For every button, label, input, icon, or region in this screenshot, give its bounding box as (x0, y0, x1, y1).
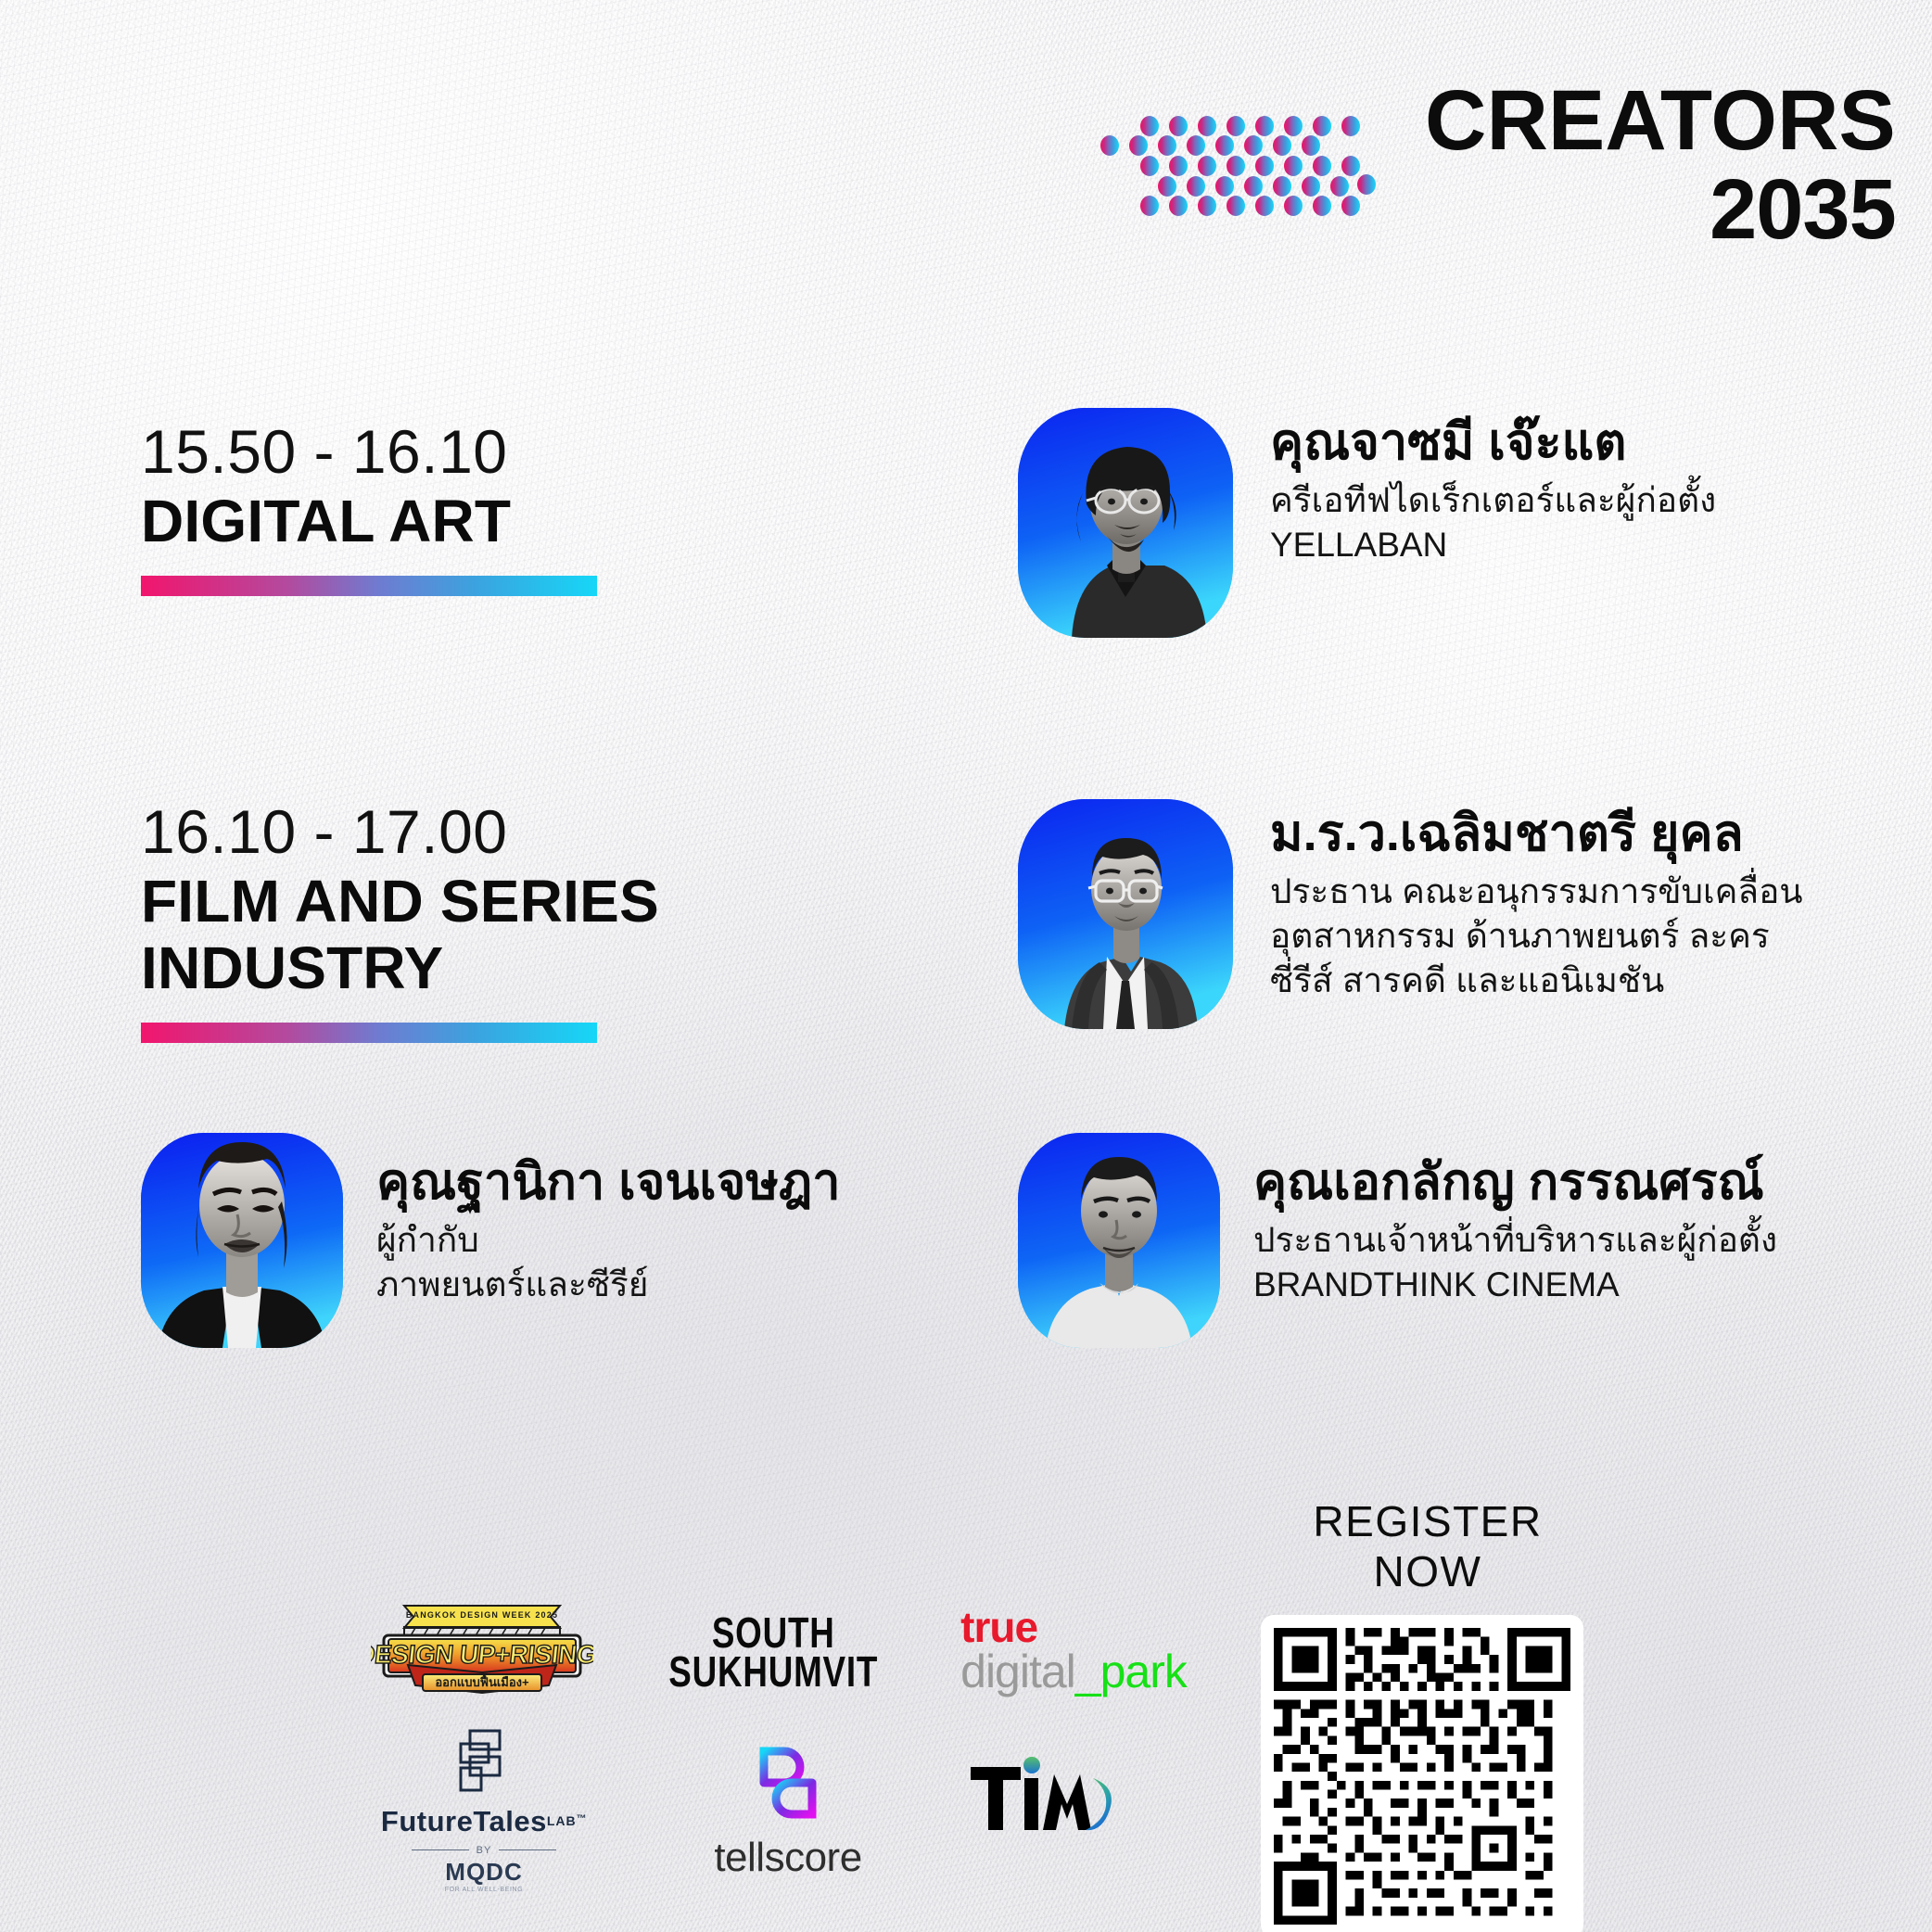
section-divider (111, 731, 1819, 740)
avatar-chalermchatri (1018, 799, 1233, 1029)
speaker-name: คุณเอกลักญ กรรณศรณ์ (1253, 1153, 1777, 1213)
avatar-jazmee (1018, 408, 1233, 638)
speaker-role-line: ประธาน คณะอนุกรรมการขับเคลื่อน (1270, 870, 1803, 914)
mqdc-tagline: FOR ALL WELL-BEING (381, 1887, 587, 1893)
park-word: _park (1075, 1646, 1187, 1697)
tellscore-mark-icon (744, 1738, 833, 1827)
session-block-1: 15.50 - 16.10 DIGITAL ART (141, 419, 597, 596)
tellscore-wordmark: tellscore (714, 1835, 861, 1881)
session-1-title: DIGITAL ART (141, 489, 597, 555)
by-label: BY (477, 1845, 492, 1856)
speaker-thanika-info: คุณฐานิกา เจนเจษฎา ผู้กำกับ ภาพยนตร์และซ… (376, 1133, 841, 1307)
register-now-label: REGISTER NOW (1261, 1496, 1595, 1596)
session-2-title-line2: INDUSTRY (141, 935, 659, 1002)
speaker-role-line: YELLABAN (1270, 523, 1716, 567)
speaker-role-line: ครีเอทีฟไดเร็กเตอร์และผู้ก่อตั้ง (1270, 478, 1716, 523)
speaker-chalermchatri-info: ม.ร.ว.เฉลิมชาตรี ยุคล ประธาน คณะอนุกรรมก… (1270, 799, 1803, 1003)
speaker-jazmee-info: คุณจาซมี เจ๊ะแต ครีเอทีฟไดเร็กเตอร์และผู… (1270, 408, 1716, 567)
mqdc-label: MQDC (381, 1858, 587, 1887)
sponsor-logo-futuretales-lab: FutureTalesLAB™ BY MQDC FOR ALL WELL-BEI… (363, 1726, 604, 1893)
poster-canvas: CREATORS 2035 15.50 - 16.10 DIGITAL ART (0, 0, 1932, 1932)
avatar-thanika (141, 1133, 343, 1348)
session-block-2: 16.10 - 17.00 FILM AND SERIES INDUSTRY (141, 799, 659, 1043)
session-2-time: 16.10 - 17.00 (141, 799, 659, 865)
brand-year: 2035 (1425, 169, 1896, 250)
svg-text:DESIGN UP+RISING: DESIGN UP+RISING (371, 1640, 593, 1669)
tims-wordmark-icon (969, 1750, 1126, 1847)
south-sukhumvit-wordmark: SOUTH SUKHUMVIT (668, 1613, 878, 1692)
futuretales-f-monogram-icon (450, 1727, 518, 1796)
register-section: REGISTER NOW (1261, 1496, 1595, 1932)
sukhumvit-line-2: SUKHUMVIT (668, 1652, 878, 1691)
session-1-time: 15.50 - 16.10 (141, 419, 597, 485)
sponsor-logo-tims (946, 1743, 1150, 1854)
futuretales-name: FutureTalesLAB™ (381, 1805, 587, 1838)
sponsor-logo-design-up-rising: BANGKOK DESIGN WEEK 2025 DESIGN UP+RISIN… (371, 1600, 593, 1697)
sponsor-logo-true-digital-park: true digital_park (944, 1606, 1203, 1695)
speaker-card-akalak: คุณเอกลักญ กรรณศรณ์ ประธานเจ้าหน้าที่บริ… (1018, 1133, 1777, 1348)
futuretales-by-row: BY (381, 1845, 587, 1856)
speaker-role-line: BRANDTHINK CINEMA (1253, 1263, 1777, 1307)
brand-name: CREATORS (1425, 80, 1896, 161)
speaker-name: คุณฐานิกา เจนเจษฎา (376, 1153, 841, 1213)
speaker-card-jazmee: คุณจาซมี เจ๊ะแต ครีเอทีฟไดเร็กเตอร์และผู… (1018, 408, 1716, 638)
futuretales-label: FutureTales (381, 1805, 547, 1837)
trademark-symbol: ™ (577, 1813, 588, 1824)
divider-line-left (412, 1849, 469, 1850)
sukhumvit-line-1: SOUTH (668, 1613, 878, 1652)
svg-text:ออกแบบฟื้นเมือง+: ออกแบบฟื้นเมือง+ (435, 1672, 529, 1689)
speaker-role-line: ประธานเจ้าหน้าที่บริหารและผู้ก่อตั้ง (1253, 1218, 1777, 1263)
session-2-title-line1: FILM AND SERIES (141, 869, 659, 935)
brand-wordmark: CREATORS 2035 (1425, 80, 1896, 251)
speaker-akalak-info: คุณเอกลักญ กรรณศรณ์ ประธานเจ้าหน้าที่บริ… (1253, 1133, 1777, 1307)
sponsor-logo-tellscore: tellscore (677, 1726, 899, 1893)
qr-code-icon[interactable] (1274, 1628, 1570, 1925)
futuretales-lab-label: LAB (547, 1813, 577, 1828)
avatar-akalak (1018, 1133, 1220, 1348)
digital-park-word: digital_park (960, 1648, 1187, 1695)
speaker-role-line: ภาพยนตร์และซีรีย์ (376, 1263, 841, 1307)
true-word: true (960, 1606, 1187, 1648)
session-2-accent-rule (141, 1023, 597, 1043)
speaker-name: คุณจาซมี เจ๊ะแต (1270, 413, 1716, 473)
digital-word: digital (960, 1646, 1075, 1697)
svg-text:BANGKOK DESIGN WEEK 2025: BANGKOK DESIGN WEEK 2025 (406, 1610, 558, 1620)
brand-header: CREATORS 2035 (1099, 80, 1896, 251)
speaker-role-line: ผู้กำกับ (376, 1218, 841, 1263)
true-digital-park-wordmark: true digital_park (960, 1606, 1187, 1695)
speaker-card-thanika: คุณฐานิกา เจนเจษฎา ผู้กำกับ ภาพยนตร์และซ… (141, 1133, 841, 1348)
speaker-role-line: ซี่รีส์ สารคดี และแอนิเมชัน (1270, 959, 1803, 1003)
speaker-name: ม.ร.ว.เฉลิมชาตรี ยุคล (1270, 805, 1803, 864)
sponsor-logo-south-sukhumvit: SOUTH SUKHUMVIT (664, 1609, 883, 1695)
speaker-role-line: อุตสาหกรรม ด้านภาพยนตร์ ละคร (1270, 914, 1803, 959)
speaker-card-chalermchatri: ม.ร.ว.เฉลิมชาตรี ยุคล ประธาน คณะอนุกรรมก… (1018, 799, 1803, 1029)
session-1-accent-rule (141, 576, 597, 596)
dot-grid-logo-icon (1099, 110, 1377, 220)
futuretales-wordmark: FutureTalesLAB™ BY MQDC FOR ALL WELL-BEI… (381, 1805, 587, 1893)
qr-code-card[interactable] (1261, 1615, 1583, 1932)
design-up-rising-icon: BANGKOK DESIGN WEEK 2025 DESIGN UP+RISIN… (371, 1600, 593, 1697)
divider-line-right (499, 1849, 556, 1850)
